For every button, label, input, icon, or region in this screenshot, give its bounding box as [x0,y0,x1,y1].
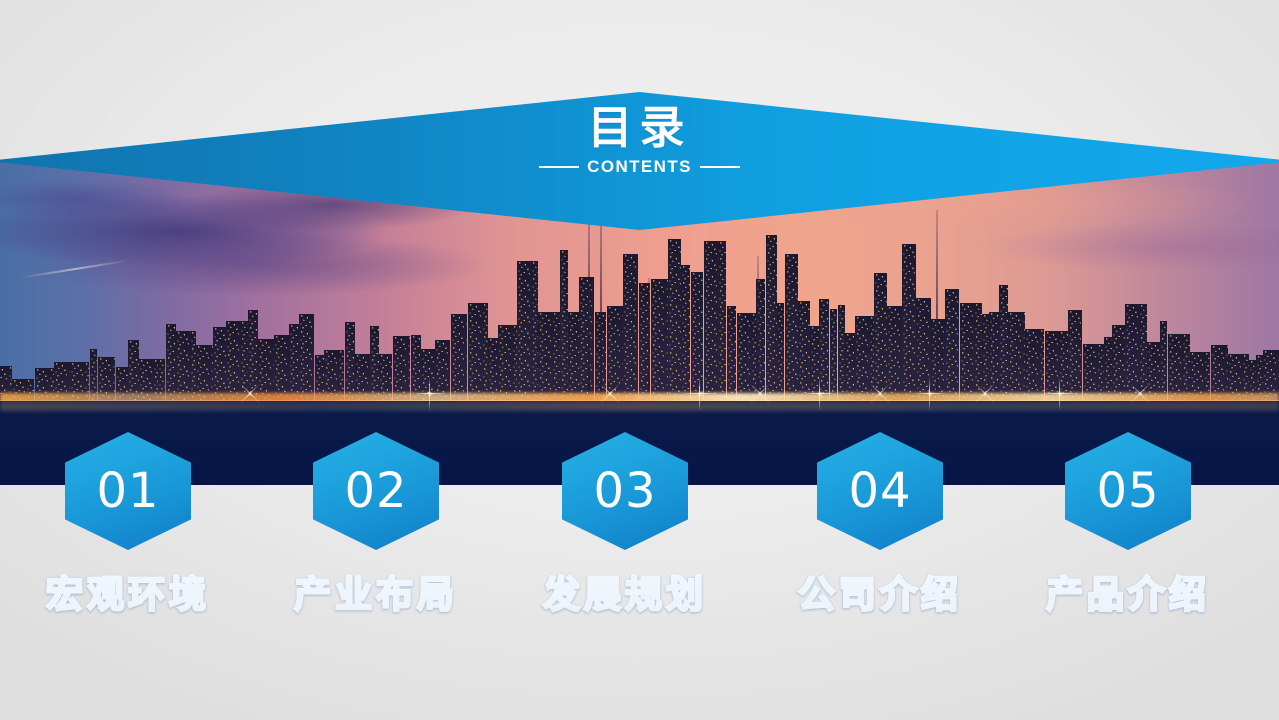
building-silhouette [1168,334,1190,400]
building-silhouette [1083,344,1104,400]
section-label[interactable]: 公司介绍 [792,564,968,618]
building-silhouette [370,326,379,400]
building-silhouette [830,309,837,400]
building-silhouette [989,312,999,400]
antenna-spire [757,256,759,400]
city-skyline [0,230,1279,400]
building-silhouette [435,340,450,400]
contents-banner-content: 目录 CONTENTS [0,92,1279,230]
building-silhouette [248,310,258,400]
hexagon-badge-icon[interactable]: 05 [1065,432,1191,550]
section-number: 02 [313,432,439,550]
building-silhouette [855,316,874,400]
building-silhouette [777,303,784,400]
contents-item-03[interactable]: 03 发展规划 [537,432,713,618]
building-silhouette [819,299,829,400]
building-silhouette [213,327,226,400]
building-silhouette [668,239,681,400]
building-silhouette [1045,331,1068,400]
contents-item-02[interactable]: 02 产业布局 [288,432,464,618]
building-silhouette [498,325,517,400]
hexagon-badge-icon[interactable]: 01 [65,432,191,550]
building-silhouette [960,303,982,400]
building-silhouette [468,303,488,400]
building-silhouette [1068,310,1082,400]
building-silhouette [568,312,579,400]
section-number: 01 [65,432,191,550]
rule-left-icon [539,166,579,168]
building-silhouette [1147,342,1160,400]
section-label[interactable]: 产品介绍 [1040,564,1216,618]
antenna-spire [588,202,590,400]
building-silhouette [982,314,989,400]
building-silhouette [1025,329,1044,400]
building-silhouette [1112,325,1125,400]
building-silhouette [166,324,176,400]
section-label[interactable]: 宏观环境 [40,564,216,618]
building-silhouette [393,336,410,400]
building-silhouette [727,306,736,400]
building-silhouette [488,338,498,400]
building-silhouette [931,319,945,400]
building-silhouette [1211,345,1228,400]
building-silhouette [838,305,845,400]
section-number: 03 [562,432,688,550]
section-label[interactable]: 产业布局 [288,564,464,618]
building-silhouette [810,326,819,400]
contents-item-05[interactable]: 05 产品介绍 [1040,432,1216,618]
contents-nav-row: 01 宏观环境 02 产业布局 03 发展规划 04 公司介绍 05 [0,432,1279,662]
building-silhouette [887,306,902,400]
building-silhouette [785,254,798,400]
presentation-slide: 目录 CONTENTS 01 宏观环境 02 产业布局 03 发展规划 [0,0,1279,720]
building-silhouette [274,335,289,400]
antenna-spire [648,278,650,400]
building-silhouette [1125,304,1147,400]
building-silhouette [299,314,314,400]
building-silhouette [691,272,703,400]
building-silhouette [289,324,299,400]
building-silhouette [704,241,726,400]
building-silhouette [874,273,887,400]
page-title: 目录 [587,104,691,151]
rule-right-icon [700,166,740,168]
antenna-spire [936,210,938,400]
hexagon-badge-icon[interactable]: 02 [313,432,439,550]
building-silhouette [766,235,777,400]
water-shimmer [0,401,1279,411]
section-label[interactable]: 发展规划 [537,564,713,618]
building-silhouette [651,279,668,400]
building-silhouette [176,331,196,400]
contents-subtitle-group: CONTENTS [539,157,740,177]
hexagon-badge-icon[interactable]: 03 [562,432,688,550]
building-silhouette [451,314,467,400]
building-silhouette [607,306,623,400]
contents-item-04[interactable]: 04 公司介绍 [792,432,968,618]
building-silhouette [1008,312,1025,400]
building-silhouette [1104,337,1112,400]
contents-item-01[interactable]: 01 宏观环境 [40,432,216,618]
building-silhouette [623,254,638,400]
building-silhouette [345,322,355,400]
building-silhouette [517,261,538,400]
building-silhouette [1160,321,1167,400]
building-silhouette [128,340,139,400]
building-silhouette [560,250,568,400]
building-silhouette [737,313,756,400]
building-silhouette [916,298,931,400]
building-silhouette [945,289,959,400]
building-silhouette [538,312,560,400]
building-silhouette [411,335,421,400]
section-number: 04 [817,432,943,550]
building-silhouette [999,285,1008,400]
building-silhouette [798,301,810,400]
hexagon-badge-icon[interactable]: 04 [817,432,943,550]
building-silhouette [226,321,248,400]
building-silhouette [579,277,594,400]
building-silhouette [196,345,213,400]
contents-subtitle: CONTENTS [587,157,692,177]
building-silhouette [845,333,855,400]
building-silhouette [902,244,916,400]
section-number: 05 [1065,432,1191,550]
building-silhouette [258,339,274,400]
antenna-spire [600,202,602,400]
building-silhouette [681,265,690,400]
